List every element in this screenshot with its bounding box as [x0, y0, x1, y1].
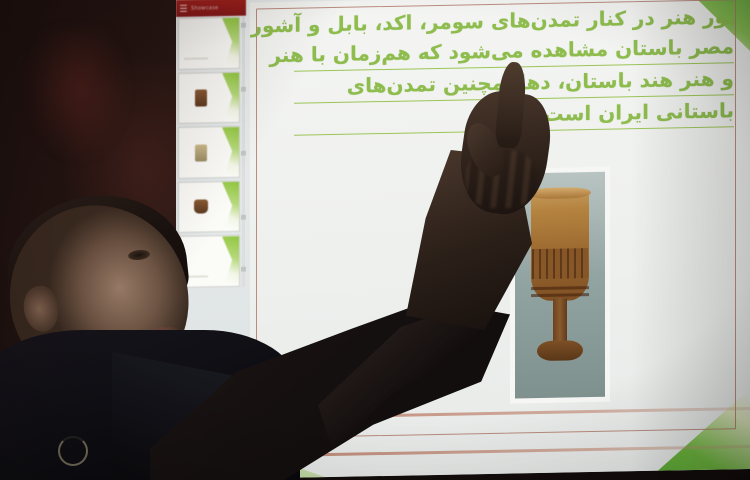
slide-accent-shape — [221, 182, 239, 232]
slide-accent-shape — [221, 72, 239, 122]
slide-thumbnail-image — [194, 199, 208, 213]
classroom-scene: Showcase — [0, 0, 750, 480]
app-toolbar[interactable]: Showcase — [176, 0, 246, 17]
slide-text-placeholder — [184, 57, 208, 59]
thumbnail-slide[interactable] — [178, 17, 240, 70]
thumbnail-scrollbar[interactable] — [242, 17, 245, 287]
thumbnail-slide[interactable] — [178, 126, 240, 179]
app-title: Showcase — [191, 5, 218, 12]
hamburger-icon[interactable] — [180, 5, 187, 12]
slide-thumbnail-image — [195, 144, 207, 161]
thumbnail-slide[interactable] — [178, 181, 240, 234]
slide-image-frame — [515, 172, 605, 399]
current-slide: ـور هنر در کنار تمدن‌های سومر، اکد، بابل… — [250, 0, 750, 479]
projection-screen: Showcase — [176, 0, 750, 480]
slide-body-text: ـور هنر در کنار تمدن‌های سومر، اکد، بابل… — [294, 1, 734, 135]
slide-text-placeholder — [184, 275, 208, 277]
thumbnail-slide[interactable] — [178, 71, 240, 124]
slide-accent-shape — [221, 18, 239, 68]
ancient-vase-illustration — [529, 190, 591, 376]
wall-poster — [28, 30, 128, 160]
thumbnail-slide[interactable] — [178, 235, 240, 288]
slide-thumbnail-rail[interactable] — [178, 17, 240, 288]
slide-accent-shape — [221, 127, 239, 177]
slide-thumbnail-image — [195, 90, 207, 107]
slide-accent-shape — [221, 236, 239, 286]
